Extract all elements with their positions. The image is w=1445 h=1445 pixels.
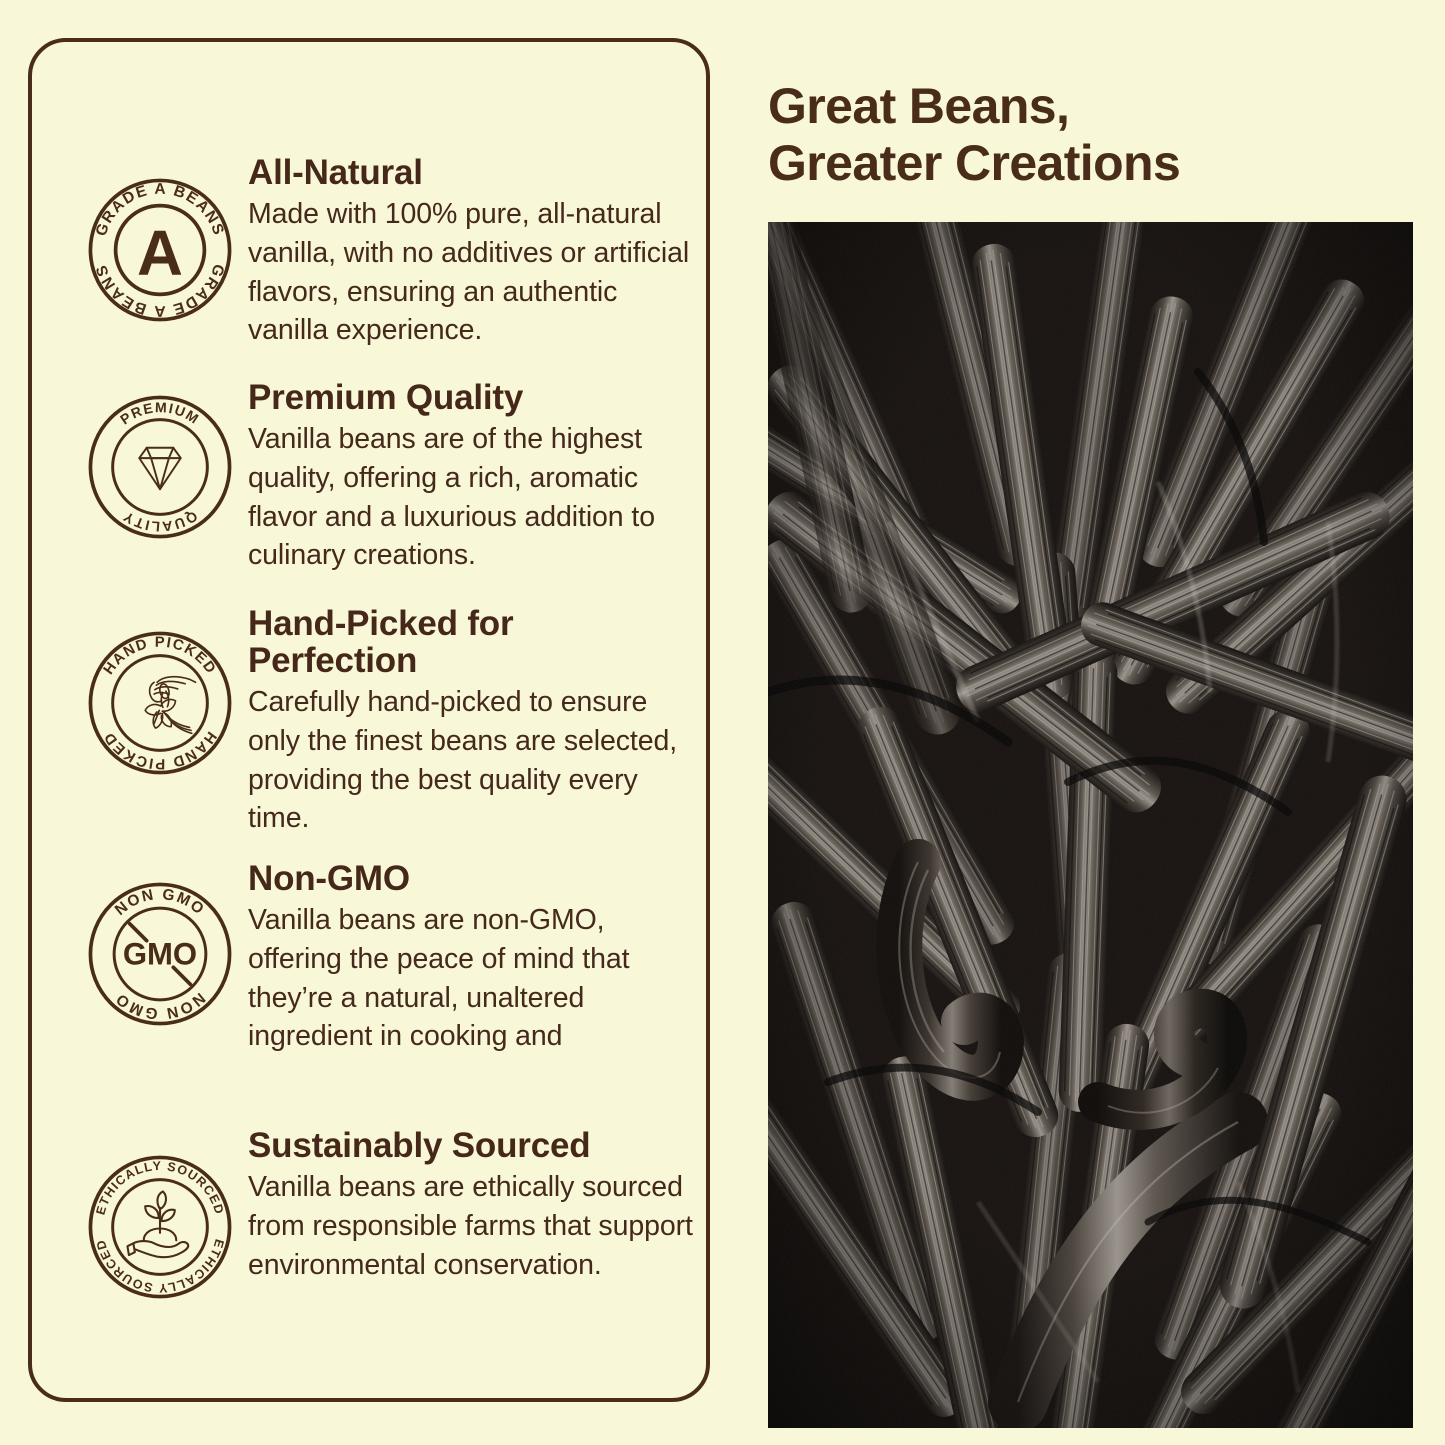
- feature-text: Sustainably Sourced Vanilla beans are et…: [240, 1127, 700, 1284]
- badge-bottom-text: NON GMO: [112, 989, 208, 1022]
- infographic-page: GRADE A BEANS GRADE A BEANS A All-Natura…: [0, 0, 1445, 1445]
- right-column: Great Beans, Greater Creations: [760, 0, 1445, 1445]
- badge-top-text: NON GMO: [112, 886, 208, 919]
- feature-description: Carefully hand-picked to ensure only the…: [248, 683, 700, 838]
- feature-description: Made with 100% pure, all-natural vanilla…: [248, 195, 700, 350]
- grade-a-beans-badge-icon: GRADE A BEANS GRADE A BEANS A: [86, 176, 234, 324]
- badge-wrap: ETHICALLY SOURCED ETHICALLY SOURCED: [80, 1127, 240, 1301]
- feature-list: GRADE A BEANS GRADE A BEANS A All-Natura…: [32, 42, 706, 1398]
- hand-picked-badge-icon: HAND PICKED HAND PICKED: [86, 629, 234, 777]
- non-gmo-badge-icon: NON GMO NON GMO GMO: [86, 880, 234, 1028]
- vanilla-beans-photo: [768, 222, 1413, 1428]
- feature-title: Hand-Picked for Perfection: [248, 605, 700, 679]
- feature-title: Non-GMO: [248, 860, 700, 897]
- badge-wrap: GRADE A BEANS GRADE A BEANS A: [80, 154, 240, 324]
- feature-item-hand-picked: HAND PICKED HAND PICKED: [80, 605, 700, 838]
- feature-description: Vanilla beans are of the highest quality…: [248, 420, 700, 575]
- badge-wrap: HAND PICKED HAND PICKED: [80, 605, 240, 777]
- diamond-glyph-icon: [139, 448, 180, 489]
- feature-description: Vanilla beans are non-GMO, offering the …: [248, 901, 700, 1056]
- badge-center-text: GMO: [123, 936, 197, 971]
- feature-text: Hand-Picked for Perfection Carefully han…: [240, 605, 700, 838]
- feature-item-non-gmo: NON GMO NON GMO GMO Non-GMO: [80, 860, 700, 1056]
- badge-center-text: A: [137, 218, 183, 289]
- feature-text: Non-GMO Vanilla beans are non-GMO, offer…: [240, 860, 700, 1056]
- feature-item-premium-quality: PREMIUM QUALITY: [80, 379, 700, 575]
- feature-description: Vanilla beans are ethically sourced from…: [248, 1168, 700, 1284]
- badge-wrap: NON GMO NON GMO GMO: [80, 860, 240, 1028]
- feature-title: Sustainably Sourced: [248, 1127, 700, 1164]
- hand-sprout-glyph-icon: [127, 1191, 188, 1257]
- feature-text: Premium Quality Vanilla beans are of the…: [240, 379, 700, 575]
- premium-quality-badge-icon: PREMIUM QUALITY: [86, 393, 234, 541]
- page-title: Great Beans, Greater Creations: [768, 78, 1428, 192]
- badge-wrap: PREMIUM QUALITY: [80, 379, 240, 541]
- svg-text:NON GMO: NON GMO: [112, 886, 208, 919]
- hand-flower-glyph-icon: [145, 677, 195, 734]
- svg-text:NON GMO: NON GMO: [112, 989, 208, 1022]
- features-card: GRADE A BEANS GRADE A BEANS A All-Natura…: [28, 38, 710, 1402]
- ethically-sourced-badge-icon: ETHICALLY SOURCED ETHICALLY SOURCED: [86, 1153, 234, 1301]
- feature-item-all-natural: GRADE A BEANS GRADE A BEANS A All-Natura…: [80, 154, 700, 350]
- feature-title: Premium Quality: [248, 379, 700, 416]
- feature-title: All-Natural: [248, 154, 700, 191]
- vanilla-beans-illustration: [768, 222, 1413, 1428]
- feature-text: All-Natural Made with 100% pure, all-nat…: [240, 154, 700, 350]
- feature-item-sustainably-sourced: ETHICALLY SOURCED ETHICALLY SOURCED: [80, 1127, 700, 1301]
